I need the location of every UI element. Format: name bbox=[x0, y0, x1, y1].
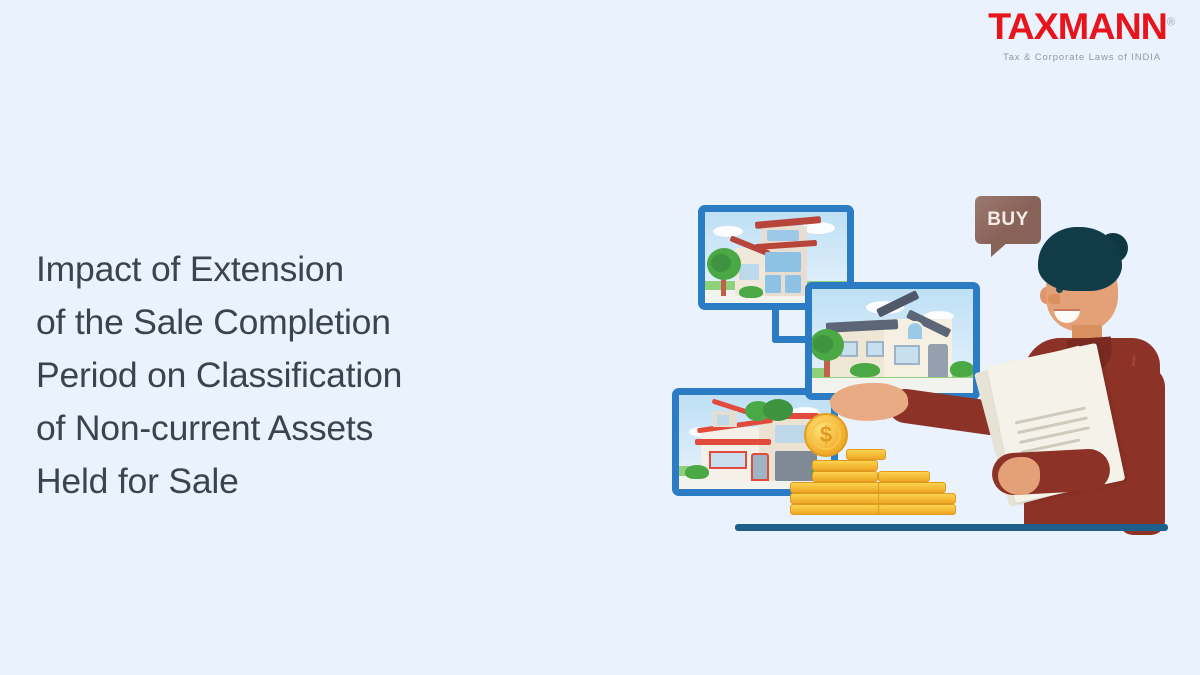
logo-wordmark: TAXMANN® bbox=[988, 8, 1175, 45]
person-illustration bbox=[980, 225, 1200, 525]
attic-window bbox=[906, 321, 924, 341]
holding-hand bbox=[998, 457, 1040, 495]
bush bbox=[739, 286, 763, 298]
registered-trademark-icon: ® bbox=[1167, 17, 1175, 29]
coin-inner-ring bbox=[811, 420, 841, 450]
real-estate-illustration: BUY $ bbox=[650, 170, 1200, 570]
ground-line bbox=[735, 524, 1168, 531]
house-door bbox=[751, 453, 769, 481]
house-window bbox=[767, 230, 799, 241]
house-window bbox=[785, 275, 801, 293]
promotional-banner: TAXMANN® Tax & Corporate Laws of INDIA I… bbox=[0, 0, 1200, 675]
bush bbox=[850, 363, 880, 377]
headline: Impact of Extension of the Sale Completi… bbox=[36, 243, 556, 508]
coin-row bbox=[790, 493, 884, 504]
coin-row bbox=[878, 482, 946, 493]
bush bbox=[685, 465, 709, 479]
house-window bbox=[709, 451, 747, 469]
tree-foliage-shade bbox=[813, 335, 833, 353]
house-window bbox=[866, 341, 884, 357]
headline-line-3: Period on Classification bbox=[36, 349, 556, 402]
logo-tagline: Tax & Corporate Laws of INDIA bbox=[982, 52, 1182, 63]
headline-line-2: of the Sale Completion bbox=[36, 296, 556, 349]
coin-row bbox=[790, 482, 884, 493]
house-door bbox=[928, 344, 948, 377]
coin-stack: $ bbox=[790, 413, 965, 528]
house-window bbox=[717, 415, 729, 425]
coin-row bbox=[790, 504, 884, 515]
coin-row bbox=[812, 460, 878, 471]
headline-line-1: Impact of Extension bbox=[36, 243, 556, 296]
house-window bbox=[894, 345, 920, 365]
nose bbox=[1048, 294, 1060, 304]
suburban-house-photo bbox=[805, 282, 980, 400]
coin-row bbox=[812, 471, 878, 482]
tree-foliage-shade bbox=[711, 254, 731, 272]
taxmann-logo: TAXMANN® Tax & Corporate Laws of INDIA bbox=[982, 8, 1182, 63]
house-window bbox=[739, 264, 759, 280]
logo-wordmark-text: TAXMANN bbox=[988, 6, 1167, 47]
coin-row bbox=[846, 449, 886, 460]
cloud-icon bbox=[713, 226, 743, 237]
house-window bbox=[765, 275, 781, 293]
headline-line-5: Held for Sale bbox=[36, 455, 556, 508]
headline-line-4: of Non-current Assets bbox=[36, 402, 556, 455]
right-arm bbox=[1119, 365, 1165, 535]
standing-coin: $ bbox=[804, 413, 848, 457]
coin-row bbox=[878, 504, 956, 515]
coin-row bbox=[878, 471, 930, 482]
house-roof-band bbox=[695, 439, 771, 445]
bush bbox=[950, 361, 974, 377]
tree-foliage bbox=[763, 399, 793, 421]
house-window bbox=[765, 252, 801, 272]
coin-row bbox=[878, 493, 956, 504]
